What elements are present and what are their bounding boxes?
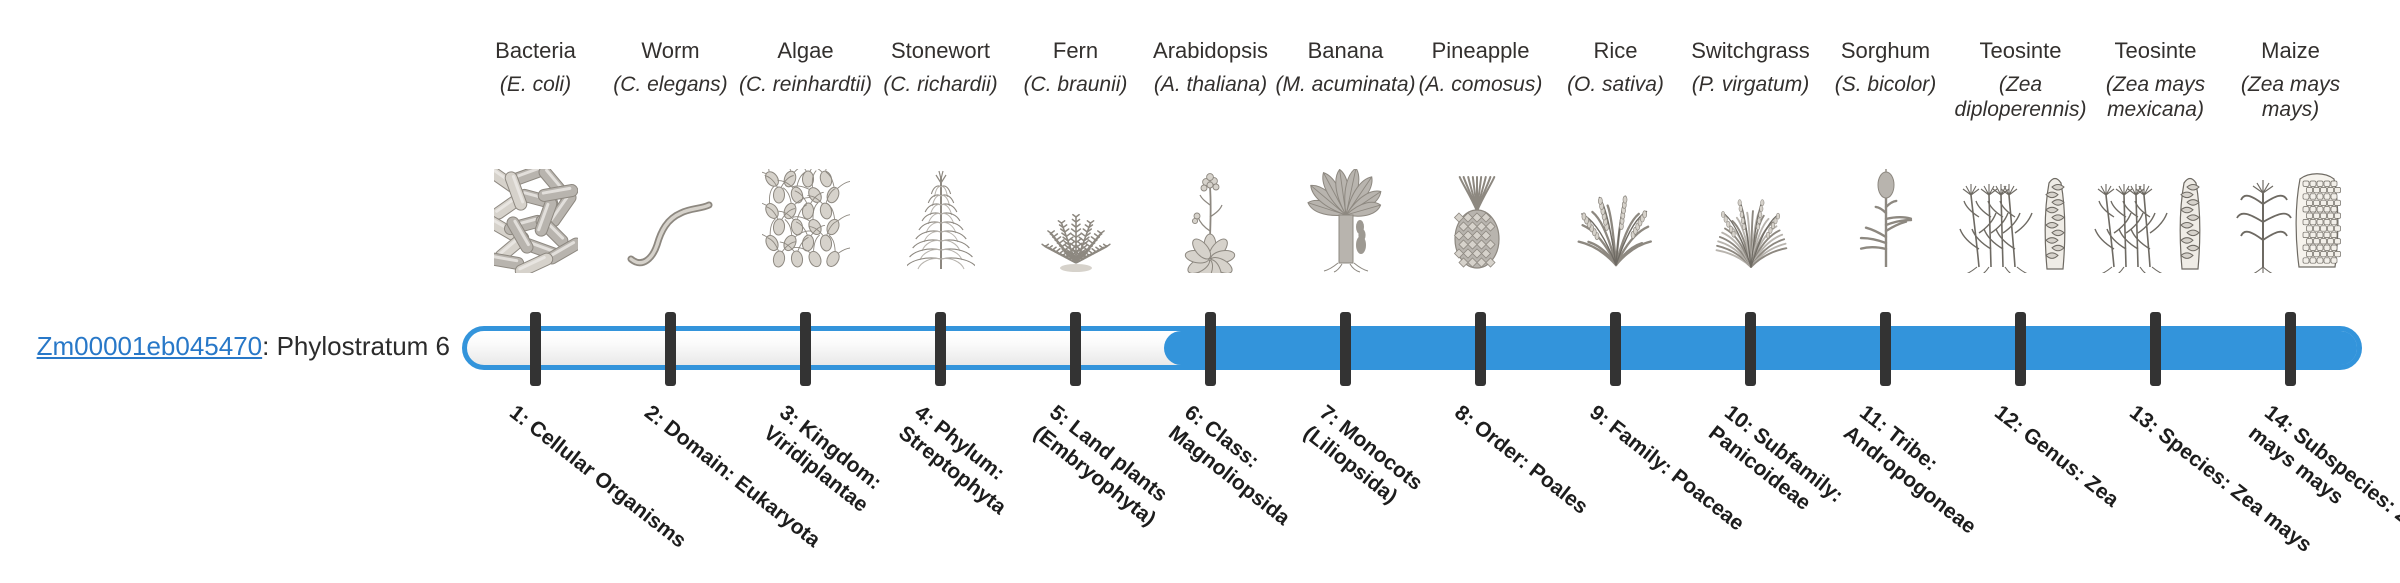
species-column: Pineapple(A. comosus) 8: Order: Poales xyxy=(1413,0,1548,580)
species-common-name: Banana xyxy=(1278,38,1413,64)
species-common-name: Worm xyxy=(603,38,738,64)
phylostratum-tick xyxy=(1070,312,1081,386)
species-column: Maize(Zea mays mays) 14: Subspecies: Zea… xyxy=(2223,0,2358,580)
bacteria-illustration xyxy=(468,168,603,273)
fern-illustration xyxy=(1008,168,1143,273)
species-common-name: Sorghum xyxy=(1818,38,1953,64)
species-common-name: Rice xyxy=(1548,38,1683,64)
species-columns: Bacteria(E. coli) xyxy=(468,0,2358,580)
phylostratum-tick xyxy=(1880,312,1891,386)
species-column: Teosinte(Zea mays mexicana) xyxy=(2088,0,2223,580)
species-common-name: Stonewort xyxy=(873,38,1008,64)
species-column: Banana(M. acuminata) xyxy=(1278,0,1413,580)
species-column: Bacteria(E. coli) xyxy=(468,0,603,580)
phylostratum-tick xyxy=(2015,312,2026,386)
gene-id-link[interactable]: Zm00001eb045470 xyxy=(37,331,263,361)
phylostratum-tick xyxy=(1610,312,1621,386)
species-common-name: Arabidopsis xyxy=(1143,38,1278,64)
species-column: Stonewort(C. richardii) xyxy=(873,0,1008,580)
phylostratum-tick xyxy=(1340,312,1351,386)
phylostratum-tick xyxy=(2285,312,2296,386)
gene-phylostratum-label: Zm00001eb045470: Phylostratum 6 xyxy=(0,331,450,361)
species-latin-name: (Zea mays mexicana) xyxy=(2085,72,2226,122)
species-column: Algae(C. reinhardtii) xyxy=(738,0,873,580)
phylostratum-tick xyxy=(1205,312,1216,386)
sorghum-illustration xyxy=(1818,168,1953,273)
phylostratum-tick xyxy=(1475,312,1486,386)
species-column: Fern(C. braunii) 5: Land plants (Embryop… xyxy=(1008,0,1143,580)
species-common-name: Maize xyxy=(2223,38,2358,64)
pineapple-illustration xyxy=(1413,168,1548,273)
species-common-name: Bacteria xyxy=(468,38,603,64)
species-column: Arabidopsis(A. thaliana) 6: Class: Magno… xyxy=(1143,0,1278,580)
phylostratum-tick xyxy=(800,312,811,386)
phylostratum-tick xyxy=(1745,312,1756,386)
species-latin-name: (C. elegans) xyxy=(600,72,741,97)
species-latin-name: (Zea diploperennis) xyxy=(1950,72,2091,122)
species-latin-name: (P. virgatum) xyxy=(1680,72,1821,97)
species-column: Worm(C. elegans) 2: Domain: Eukaryota xyxy=(603,0,738,580)
rice-illustration xyxy=(1548,168,1683,273)
worm-illustration xyxy=(603,168,738,273)
species-column: Rice(O. sativa) 9: Family: Poaceae xyxy=(1548,0,1683,580)
switchgrass-illustration xyxy=(1683,168,1818,273)
species-latin-name: (O. sativa) xyxy=(1545,72,1686,97)
teosinte-mexicana-illustration xyxy=(2088,168,2223,273)
species-common-name: Switchgrass xyxy=(1683,38,1818,64)
banana-illustration xyxy=(1278,168,1413,273)
species-latin-name: (A. thaliana) xyxy=(1140,72,1281,97)
phylostratum-tick xyxy=(2150,312,2161,386)
species-latin-name: (S. bicolor) xyxy=(1815,72,1956,97)
species-latin-name: (Zea mays mays) xyxy=(2220,72,2361,122)
phylostratum-tick xyxy=(530,312,541,386)
species-common-name: Teosinte xyxy=(1953,38,2088,64)
species-latin-name: (E. coli) xyxy=(465,72,606,97)
species-latin-name: (M. acuminata) xyxy=(1275,72,1416,97)
algae-illustration xyxy=(738,168,873,273)
species-common-name: Algae xyxy=(738,38,873,64)
species-latin-name: (C. richardii) xyxy=(870,72,1011,97)
species-latin-name: (A. comosus) xyxy=(1410,72,1551,97)
species-column: Sorghum(S. bicolor) 11: Tribe: Andropogo… xyxy=(1818,0,1953,580)
species-column: Switchgrass(P. virgatum) 10: Subfamily: … xyxy=(1683,0,1818,580)
species-common-name: Fern xyxy=(1008,38,1143,64)
species-latin-name: (C. reinhardtii) xyxy=(735,72,876,97)
stonewort-illustration xyxy=(873,168,1008,273)
phylostratum-rank-label: 14: Subspecies: Zea mays mays xyxy=(2243,400,2400,583)
teosinte-diploperennis-illustration xyxy=(1953,168,2088,273)
species-column: Teosinte(Zea diploperennis) xyxy=(1953,0,2088,580)
gene-label-separator: : xyxy=(262,331,276,361)
phylostratum-tick xyxy=(935,312,946,386)
phylostratum-tick xyxy=(665,312,676,386)
phylostratum-timeline: Zm00001eb045470: Phylostratum 6 Bacteria… xyxy=(0,0,2400,580)
maize-illustration xyxy=(2223,168,2358,273)
species-common-name: Pineapple xyxy=(1413,38,1548,64)
phylostratum-value: Phylostratum 6 xyxy=(277,331,450,361)
species-common-name: Teosinte xyxy=(2088,38,2223,64)
species-latin-name: (C. braunii) xyxy=(1005,72,1146,97)
arabidopsis-illustration xyxy=(1143,168,1278,273)
